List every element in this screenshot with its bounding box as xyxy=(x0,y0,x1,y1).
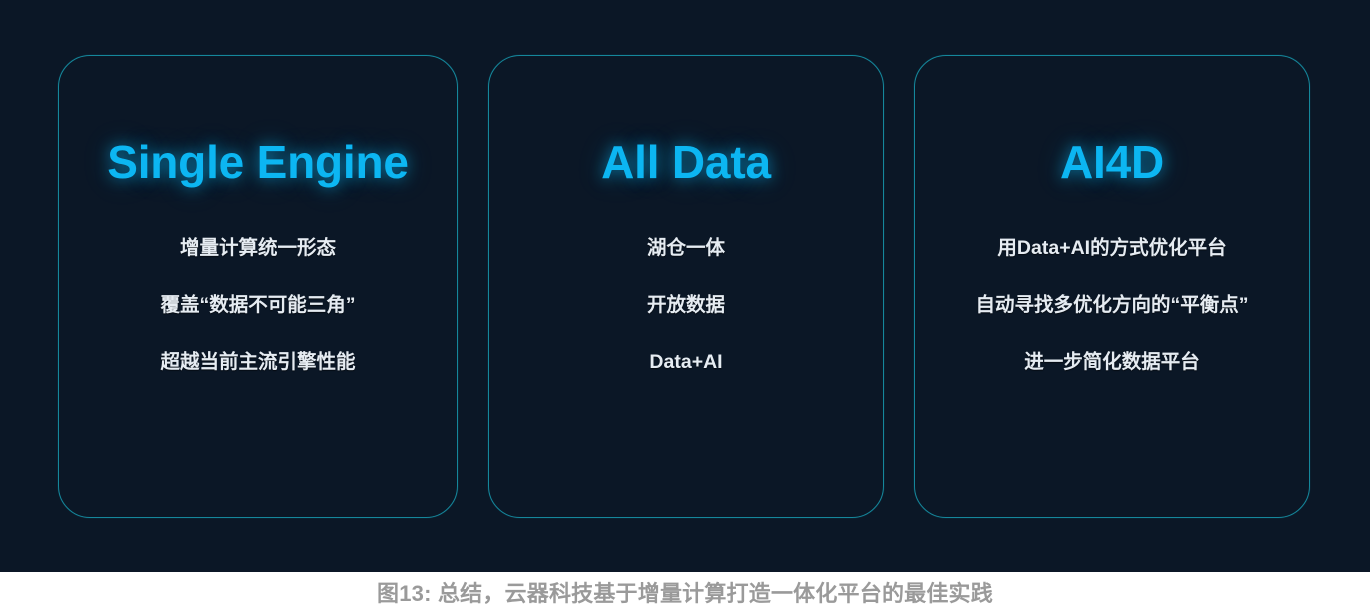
card-line: 覆盖“数据不可能三角” xyxy=(160,293,355,318)
card-line: 进一步简化数据平台 xyxy=(1024,350,1200,375)
card-line: Data+AI xyxy=(649,350,722,375)
feature-card-all-data[interactable]: All Data 湖仓一体 开放数据 Data+AI xyxy=(488,55,884,518)
slide-page: Single Engine 增量计算统一形态 覆盖“数据不可能三角” 超越当前主… xyxy=(0,0,1370,616)
card-title: All Data xyxy=(601,138,771,188)
card-line-list: 湖仓一体 开放数据 Data+AI xyxy=(489,236,883,376)
card-line: 用Data+AI的方式优化平台 xyxy=(997,236,1226,261)
card-line: 开放数据 xyxy=(647,293,725,318)
card-line: 增量计算统一形态 xyxy=(180,236,336,261)
card-line-list: 用Data+AI的方式优化平台 自动寻找多优化方向的“平衡点” 进一步简化数据平… xyxy=(915,236,1309,376)
card-row: Single Engine 增量计算统一形态 覆盖“数据不可能三角” 超越当前主… xyxy=(58,55,1310,518)
card-line-list: 增量计算统一形态 覆盖“数据不可能三角” 超越当前主流引擎性能 xyxy=(59,236,457,376)
card-line: 自动寻找多优化方向的“平衡点” xyxy=(975,293,1248,318)
slide-canvas: Single Engine 增量计算统一形态 覆盖“数据不可能三角” 超越当前主… xyxy=(0,0,1370,572)
card-line: 超越当前主流引擎性能 xyxy=(160,350,355,375)
feature-card-ai4d[interactable]: AI4D 用Data+AI的方式优化平台 自动寻找多优化方向的“平衡点” 进一步… xyxy=(914,55,1310,518)
card-title: AI4D xyxy=(1060,138,1164,188)
card-line: 湖仓一体 xyxy=(647,236,725,261)
figure-caption-bar: 图13: 总结，云器科技基于增量计算打造一体化平台的最佳实践 xyxy=(0,572,1370,616)
feature-card-single-engine[interactable]: Single Engine 增量计算统一形态 覆盖“数据不可能三角” 超越当前主… xyxy=(58,55,458,518)
card-title: Single Engine xyxy=(107,138,409,188)
figure-caption: 图13: 总结，云器科技基于增量计算打造一体化平台的最佳实践 xyxy=(377,581,993,607)
